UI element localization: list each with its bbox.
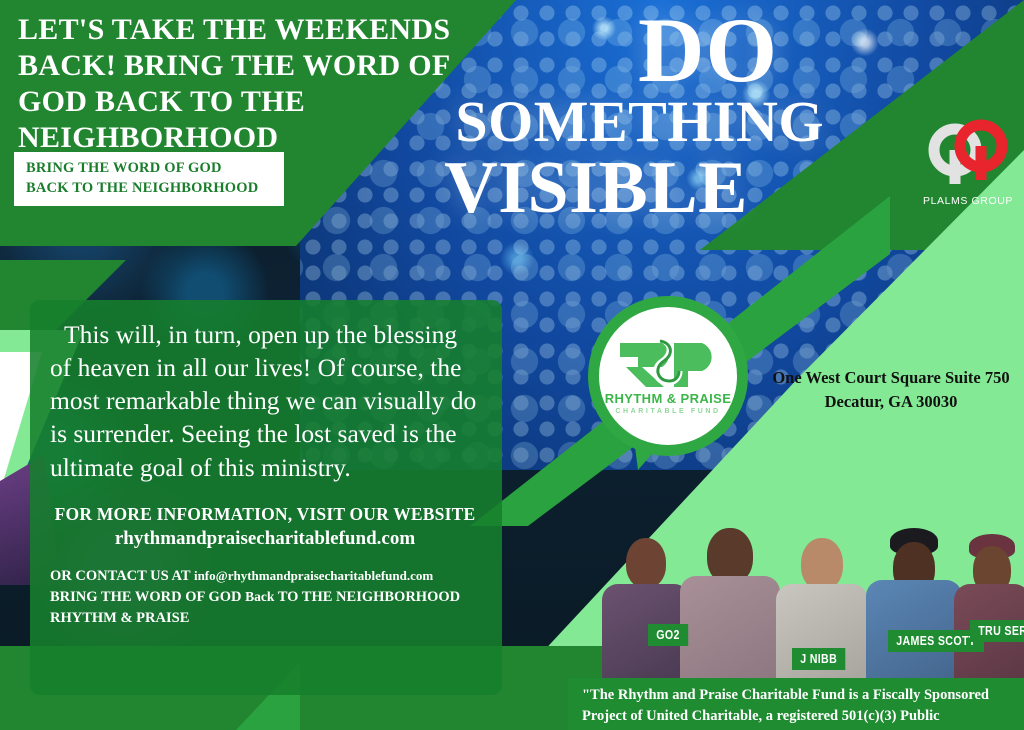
artist-photo [678, 524, 782, 680]
address-block: One West Court Square Suite 750 Decatur,… [762, 366, 1020, 414]
tagline-row: BRING THE WORD OF GOD Back TO THE NEIGHB… [50, 587, 480, 608]
website-link[interactable]: rhythmandpraisecharitablefund.com [50, 528, 480, 550]
website-callout: FOR MORE INFORMATION, VISIT OUR WEBSITE … [50, 504, 480, 550]
hero-line-do: DO [380, 8, 1020, 93]
artist-name-chip: GO2 [648, 624, 688, 646]
logo-subtitle: CHARITABLE FUND [615, 408, 720, 415]
disclaimer-line-2: Project of United Charitable, a register… [582, 706, 1012, 727]
callout-line-1: BRING THE WORD OF GOD [26, 159, 274, 179]
artist-name-chip: TRU SERVA [970, 620, 1024, 642]
artist-photo [952, 532, 1024, 680]
disclaimer-banner: "The Rhythm and Praise Charitable Fund i… [568, 678, 1024, 730]
plalms-group-label: PLALMS GROUP [920, 195, 1016, 207]
tagline-mixed-word: Back [245, 589, 274, 604]
rp-monogram-icon [616, 337, 720, 389]
message-panel: This will, in turn, open up the blessing… [30, 300, 502, 695]
body-paragraph: This will, in turn, open up the blessing… [50, 318, 480, 484]
cta-label: FOR MORE INFORMATION, VISIT OUR WEBSITE [55, 504, 476, 524]
address-line-1: One West Court Square Suite 750 [762, 366, 1020, 390]
callout-box: BRING THE WORD OF GOD BACK TO THE NEIGHB… [14, 152, 284, 206]
contact-prefix: OR CONTACT US AT [50, 568, 190, 584]
artist-name-chip: J NIBB [792, 648, 845, 670]
artist-lineup: GO2 J NIBB JAMES SCOTT TRU SERVA [592, 520, 1024, 680]
flyer-canvas: LET'S TAKE THE WEEKENDS BACK! BRING THE … [0, 0, 1024, 730]
logo-name: RHYTHM & PRAISE [605, 391, 732, 406]
artist-photo [864, 526, 964, 680]
tagline-part-b: TO THE NEIGHBORHOOD [278, 589, 460, 605]
contact-email[interactable]: info@rhythmandpraisecharitablefund.com [194, 568, 433, 583]
logo-disc: RHYTHM & PRAISE CHARITABLE FUND [599, 307, 737, 445]
address-line-2: Decatur, GA 30030 [762, 390, 1020, 414]
plalms-rings-icon [925, 118, 1011, 192]
callout-line-2: BACK TO THE NEIGHBORHOOD [26, 179, 274, 199]
tagline-part-a: BRING THE WORD OF GOD [50, 589, 241, 605]
contact-email-row: OR CONTACT US AT info@rhythmandpraisecha… [50, 566, 480, 587]
contact-block: OR CONTACT US AT info@rhythmandpraisecha… [50, 566, 480, 629]
disclaimer-line-1: "The Rhythm and Praise Charitable Fund i… [582, 685, 1012, 706]
rhythm-praise-logo-bubble: RHYTHM & PRAISE CHARITABLE FUND [588, 296, 748, 456]
organization-name: RHYTHM & PRAISE [50, 608, 480, 629]
plalms-group-logo: PLALMS GROUP [920, 118, 1016, 207]
